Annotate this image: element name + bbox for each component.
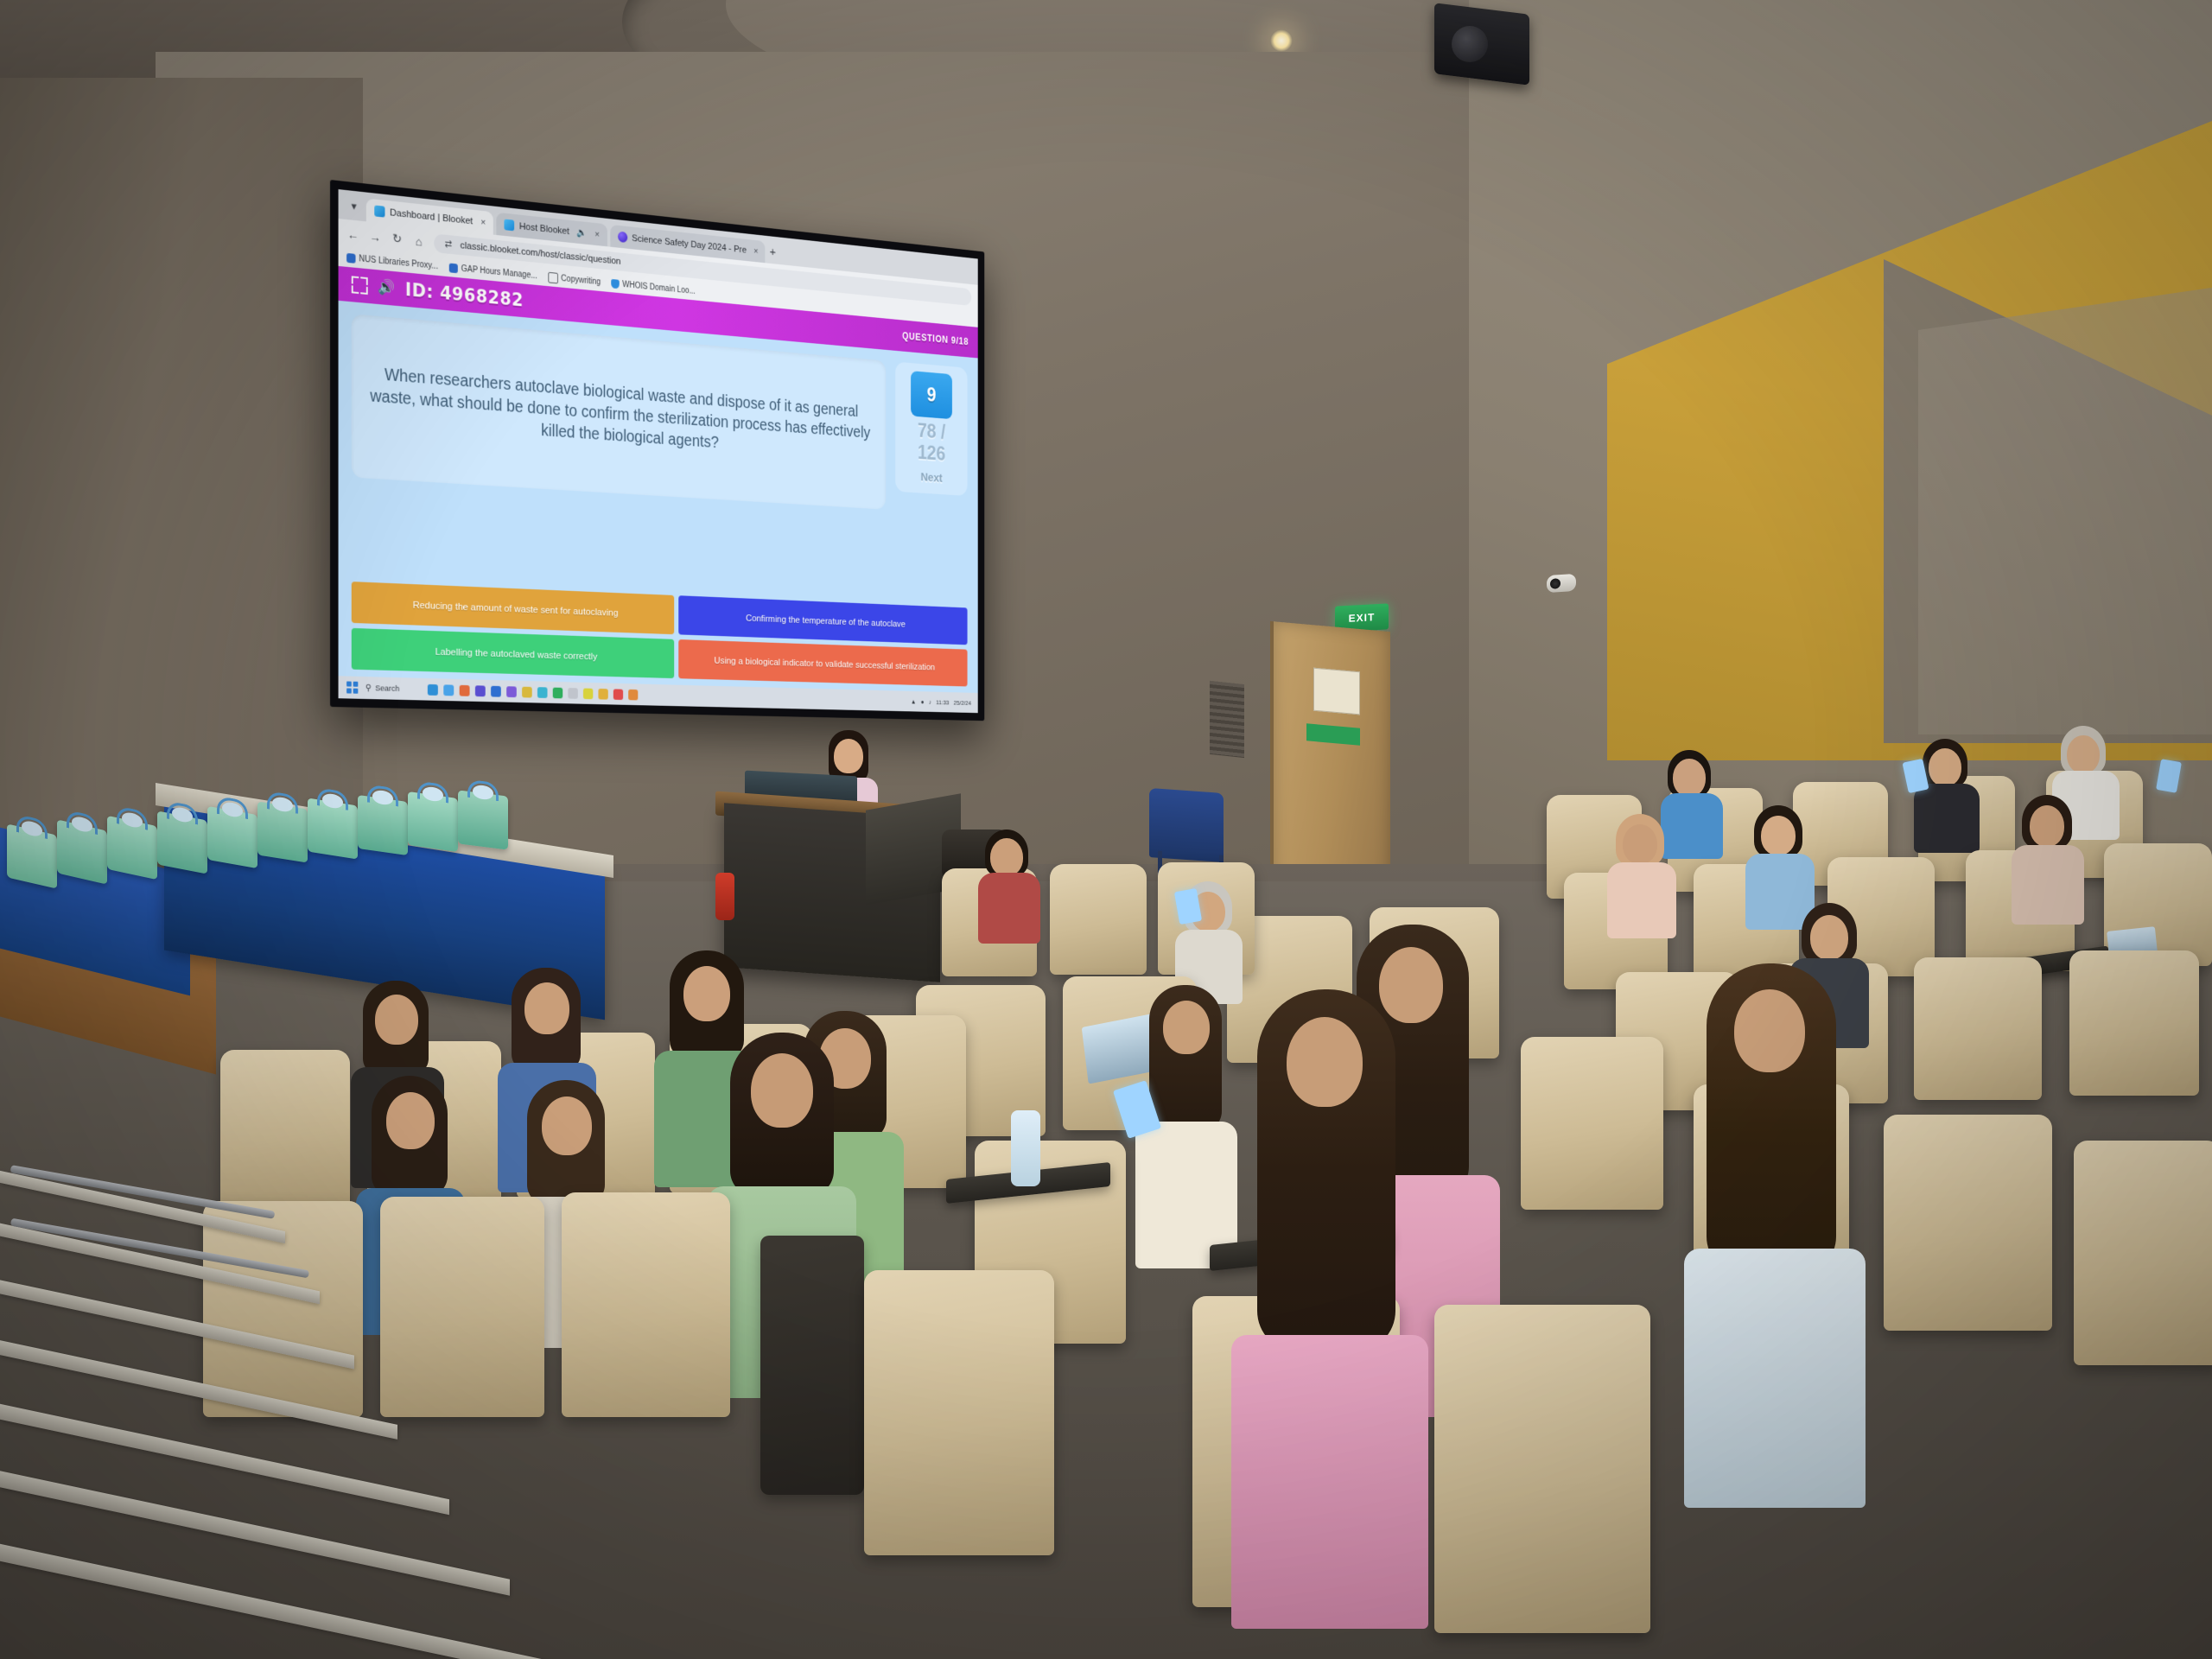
back-icon[interactable]: ← [346, 226, 359, 241]
next-button[interactable]: Next [921, 471, 943, 486]
forward-icon[interactable]: → [369, 229, 382, 244]
home-icon[interactable]: ⌂ [412, 233, 425, 248]
torso [2012, 845, 2084, 925]
water-bottle [1011, 1110, 1040, 1186]
seat [2069, 950, 2199, 1096]
network-icon[interactable]: ● [921, 698, 925, 705]
gift-bag [408, 791, 458, 852]
answer-option-1[interactable]: Reducing the amount of waste sent for au… [352, 582, 674, 634]
exit-door [1270, 621, 1390, 891]
head [542, 1096, 592, 1155]
tab-title: Dashboard | Blooket [390, 207, 473, 226]
answered-count: 78 / [918, 421, 945, 442]
answer-option-3[interactable]: Labelling the autoclaved waste correctly [352, 628, 674, 678]
head [751, 1053, 813, 1128]
head [375, 995, 418, 1045]
folder-icon [548, 271, 558, 283]
slides-favicon-icon [618, 232, 627, 244]
question-row: When researchers autoclave biological wa… [352, 314, 968, 600]
speaker-icon[interactable]: 🔊 [378, 278, 396, 297]
torso [1661, 793, 1723, 859]
taskbar-system-tray: ▲ ● ♪ 11:33 25/2/24 [911, 698, 971, 707]
head [1379, 947, 1443, 1023]
seat [562, 1192, 730, 1417]
gift-bag [207, 806, 257, 868]
taskbar-search[interactable]: ⚲ Search [365, 683, 400, 694]
torso [1231, 1335, 1428, 1629]
torso [978, 873, 1040, 944]
bookmark-label: Copywriting [561, 274, 601, 287]
blooket-favicon-icon [374, 205, 385, 217]
head [386, 1092, 435, 1149]
blooket-host-page: 🔊 ID: 4968282 QUESTION 9/18 When researc… [339, 266, 978, 713]
seat [1884, 1115, 2052, 1331]
answer-option-2[interactable]: Confirming the temperature of the autocl… [678, 595, 967, 645]
app-icon[interactable] [491, 685, 501, 696]
gift-bag [7, 823, 57, 888]
tab-close-icon[interactable]: × [594, 229, 600, 239]
wall-camera [1547, 574, 1576, 593]
head [1287, 1017, 1363, 1107]
game-id: ID: 4968282 [405, 279, 524, 310]
app-icon[interactable] [443, 684, 454, 696]
question-text: When researchers autoclave biological wa… [366, 364, 874, 465]
app-icon[interactable] [628, 689, 638, 700]
taskbar-clock[interactable]: 11:33 [936, 698, 949, 705]
head [1734, 989, 1805, 1072]
blooket-favicon-icon [505, 219, 515, 232]
game-id-label: ID: [405, 279, 434, 302]
speaker-cone-icon [1452, 26, 1488, 62]
app-icon[interactable] [522, 686, 532, 697]
windows-start-icon[interactable] [346, 681, 358, 693]
shield-icon [611, 278, 620, 288]
new-tab-button[interactable]: + [770, 245, 776, 258]
question-side-panel: 9 78 / 126 Next [895, 362, 967, 497]
gift-bag [257, 801, 308, 862]
game-id-value: 4968282 [440, 283, 524, 310]
head [683, 966, 730, 1021]
fire-extinguisher [715, 873, 734, 920]
app-icon[interactable] [460, 684, 470, 696]
app-icon[interactable] [568, 688, 577, 699]
seat [1914, 957, 2042, 1100]
door-poster [1313, 668, 1360, 715]
search-icon: ⚲ [365, 683, 372, 693]
app-icon[interactable] [537, 687, 548, 698]
gift-bag [458, 790, 508, 849]
tab-title: Host Blooket [519, 221, 569, 237]
answer-option-4[interactable]: Using a biological indicator to validate… [678, 639, 967, 686]
head [1929, 748, 1961, 786]
ceiling-light [1270, 29, 1293, 52]
seat [1434, 1305, 1650, 1633]
seat [2074, 1141, 2212, 1365]
search-placeholder: Search [375, 683, 399, 694]
tab-mute-icon[interactable]: 🔈 [577, 226, 588, 238]
taskbar-app-icons [428, 683, 638, 700]
head [2030, 805, 2064, 847]
seat [380, 1197, 544, 1417]
tab-search-chevron-icon[interactable]: ▾ [345, 196, 363, 217]
gift-bag [358, 795, 408, 855]
torso [1684, 1249, 1866, 1508]
volume-icon[interactable]: ♪ [929, 698, 931, 705]
app-icon[interactable] [599, 688, 608, 699]
clock-icon [449, 263, 458, 273]
app-icon[interactable] [475, 685, 486, 696]
seat [220, 1050, 350, 1210]
gift-bag [157, 810, 207, 874]
seat [1521, 1037, 1663, 1210]
browser-window: ▾ Dashboard | Blooket × Host Blooket 🔈 × [339, 189, 978, 713]
head [524, 982, 569, 1034]
bookmark-label: WHOIS Domain Loo... [622, 280, 695, 296]
gift-bag [308, 798, 358, 859]
lecture-hall-scene: ▾ Dashboard | Blooket × Host Blooket 🔈 × [0, 0, 2212, 1659]
tab-close-icon[interactable]: × [480, 217, 486, 227]
presenter-head [834, 739, 863, 773]
chevron-up-icon[interactable]: ▲ [911, 698, 916, 705]
app-icon[interactable] [428, 683, 438, 695]
head [990, 838, 1023, 876]
app-icon[interactable] [613, 689, 623, 700]
gift-bag [57, 819, 107, 884]
reload-icon[interactable]: ↻ [391, 232, 404, 246]
torso [1914, 784, 1980, 853]
torso [1607, 862, 1676, 938]
bookmark-copywriting[interactable]: Copywriting [548, 271, 601, 287]
app-icon[interactable] [506, 686, 517, 697]
globe-icon [346, 252, 355, 263]
total-players-count: 126 [918, 442, 945, 465]
right-wall-panel [1918, 285, 2212, 734]
head [1810, 915, 1848, 960]
bookmark-label: GAP Hours Manage... [461, 264, 537, 280]
head [1673, 759, 1706, 797]
head [1163, 1001, 1210, 1054]
question-card: When researchers autoclave biological wa… [352, 314, 886, 510]
app-icon[interactable] [583, 688, 593, 699]
screen-surface: ▾ Dashboard | Blooket × Host Blooket 🔈 × [339, 189, 978, 713]
taskbar-date[interactable]: 25/2/24 [954, 699, 971, 707]
app-icon[interactable] [553, 687, 563, 698]
seat [1050, 864, 1147, 975]
projection-screen: ▾ Dashboard | Blooket × Host Blooket 🔈 × [330, 180, 984, 721]
question-counter: QUESTION 9/18 [902, 330, 969, 347]
blue-chair [1149, 788, 1224, 862]
tab-close-icon[interactable]: × [753, 246, 758, 257]
timer-badge: 9 [911, 371, 952, 419]
split-view-icon: ⇄ [442, 237, 454, 251]
head [2067, 735, 2100, 773]
seat [760, 1236, 864, 1495]
head [1623, 824, 1657, 864]
seat [864, 1270, 1054, 1555]
head [1761, 816, 1796, 855]
gift-bag [107, 816, 157, 880]
fullscreen-icon[interactable] [352, 276, 368, 295]
wall-vent [1210, 681, 1244, 758]
